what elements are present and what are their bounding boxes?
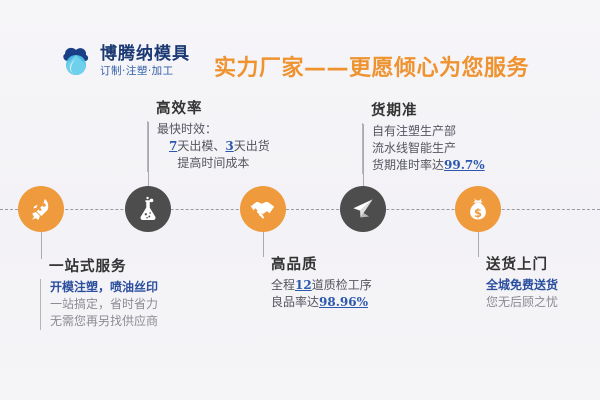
- logo-company-name: 博腾纳模具: [100, 45, 190, 64]
- metric-value: 3: [225, 139, 233, 153]
- metric-value: 12: [295, 278, 312, 292]
- timeline-dashed-rule: [0, 209, 600, 210]
- card-high-efficiency: 高效率 最快时效： 7天出模、3天出货 提高时间成本: [147, 100, 270, 172]
- card-line: 流水线智能生产: [372, 140, 485, 157]
- svg-text:$: $: [474, 206, 482, 220]
- card-one-stop-service: 一站式服务 开模注塑，喷油丝印 一站搞定，省时省力 无需您再另找供应商: [40, 258, 158, 330]
- card-line: 开模注塑，喷油丝印: [50, 279, 158, 296]
- timeline-node-one-stop[interactable]: [18, 186, 64, 232]
- paper-plane-icon: [349, 195, 377, 223]
- card-body-quality: 全程12道质检工序 良品率达98.96%: [262, 277, 372, 311]
- infographic-canvas: 博腾纳模具 订制·注塑·加工 实力厂家——更愿倾心为您服务: [0, 0, 600, 400]
- card-line-with-numbers: 良品率达98.96%: [271, 294, 372, 311]
- flask-icon: [134, 195, 162, 223]
- card-title-delivery-time: 货期准: [362, 102, 485, 121]
- card-on-time-delivery: 货期准 自有注塑生产部 流水线智能生产 货期准时率达99.7%: [362, 102, 485, 174]
- card-line-with-numbers: 7天出模、3天出货: [157, 138, 270, 155]
- metric-value: 98.96%: [319, 295, 368, 309]
- timeline-node-shipping[interactable]: $: [455, 186, 501, 232]
- timeline-node-delivery-time[interactable]: [340, 186, 386, 232]
- cloud-droplet-logo-icon: [58, 44, 94, 78]
- company-logo: 博腾纳模具 订制·注塑·加工: [58, 44, 190, 78]
- card-body-shipping: 全城免费送货 您无后顾之忧: [477, 277, 558, 311]
- card-door-to-door-delivery: 送货上门 全城免费送货 您无后顾之忧: [477, 256, 558, 311]
- metric-value: 99.7%: [444, 158, 485, 172]
- card-title-quality: 高品质: [262, 256, 372, 275]
- timeline-node-quality[interactable]: [240, 186, 286, 232]
- card-line: 全城免费送货: [486, 277, 558, 294]
- page-headline: 实力厂家——更愿倾心为您服务: [214, 50, 529, 82]
- card-line: 一站搞定，省时省力: [50, 296, 158, 313]
- card-line-with-numbers: 货期准时率达99.7%: [372, 157, 485, 174]
- metric-unit: 天出模、: [177, 139, 225, 153]
- card-body-one-stop: 开模注塑，喷油丝印 一站搞定，省时省力 无需您再另找供应商: [40, 279, 158, 330]
- card-title-shipping: 送货上门: [477, 256, 558, 275]
- rocket-icon: [27, 195, 55, 223]
- card-line: 提高时间成本: [157, 155, 270, 172]
- card-line: 自有注塑生产部: [372, 123, 485, 140]
- metric-prefix: 良品率达: [271, 295, 319, 309]
- handshake-icon: [248, 194, 278, 224]
- card-line: 最快时效：: [157, 121, 270, 138]
- card-body-efficiency: 最快时效： 7天出模、3天出货 提高时间成本: [147, 121, 270, 172]
- card-line: 您无后顾之忧: [486, 294, 558, 311]
- card-title-one-stop: 一站式服务: [40, 258, 158, 277]
- logo-text-block: 博腾纳模具 订制·注塑·加工: [100, 45, 190, 78]
- timeline-node-efficiency[interactable]: [125, 186, 171, 232]
- logo-tagline: 订制·注塑·加工: [100, 64, 190, 78]
- metric-prefix: 全程: [271, 278, 295, 292]
- metric-prefix: 货期准时率达: [372, 158, 444, 172]
- money-bag-icon: $: [464, 195, 492, 223]
- card-line-with-numbers: 全程12道质检工序: [271, 277, 372, 294]
- card-body-delivery-time: 自有注塑生产部 流水线智能生产 货期准时率达99.7%: [362, 123, 485, 174]
- card-high-quality: 高品质 全程12道质检工序 良品率达98.96%: [262, 256, 372, 311]
- card-line: 无需您再另找供应商: [50, 313, 158, 330]
- metric-unit: 天出货: [234, 139, 270, 153]
- metric-suffix: 道质检工序: [312, 278, 372, 292]
- card-title-efficiency: 高效率: [147, 100, 270, 119]
